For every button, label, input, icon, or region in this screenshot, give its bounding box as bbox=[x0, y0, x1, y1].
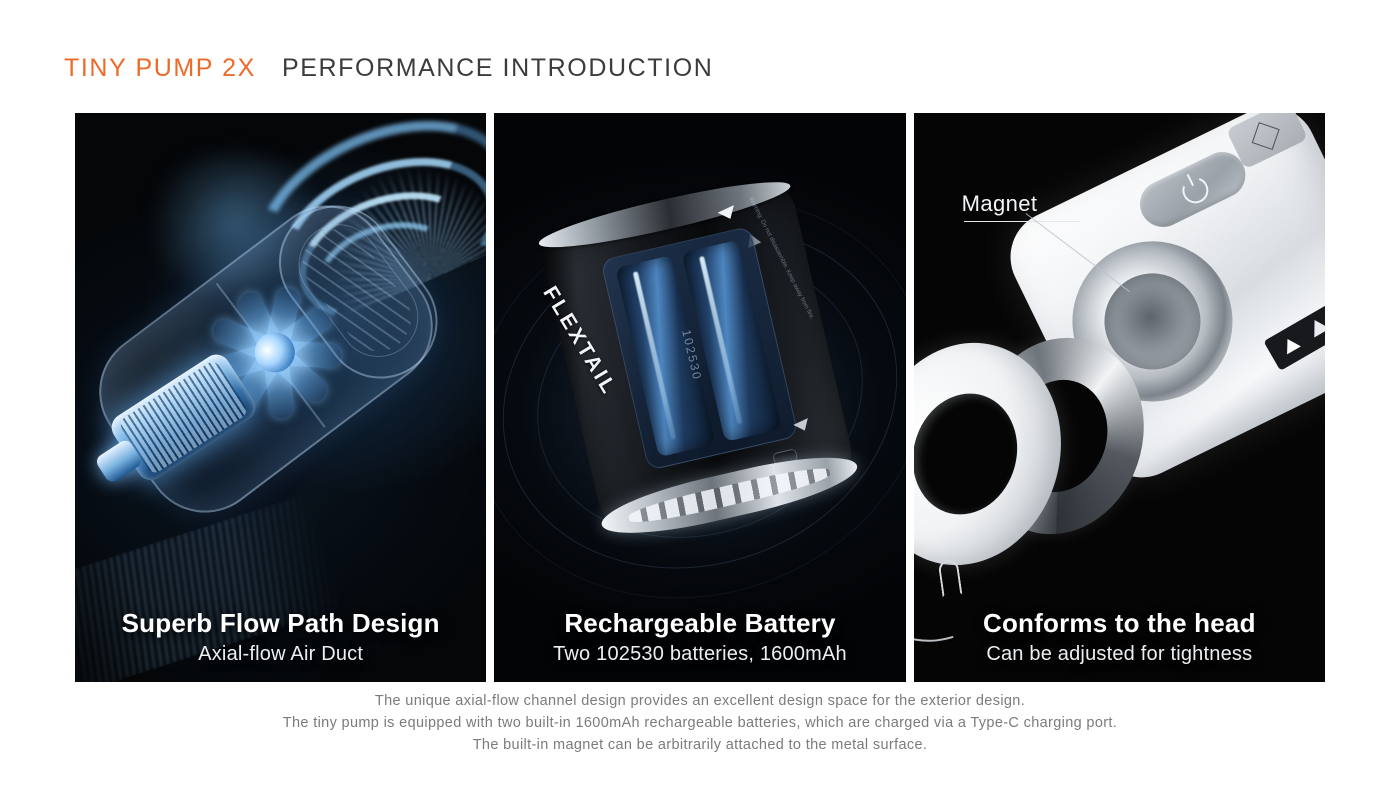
panel-flow-path-artwork bbox=[75, 113, 486, 682]
page-title: PERFORMANCE INTRODUCTION bbox=[282, 54, 713, 83]
warning-triangle-icon bbox=[1307, 315, 1325, 337]
footer-line: The built-in magnet can be arbitrarily a… bbox=[0, 734, 1400, 756]
magnet-callout-underline bbox=[964, 221, 1080, 222]
direction-arrow-icon bbox=[1281, 335, 1301, 354]
panel-magnet-artwork: Magnet Warning: Do not put your finger i… bbox=[914, 113, 1325, 682]
footer-line: The tiny pump is equipped with two built… bbox=[0, 712, 1400, 734]
feature-panel-strip: Superb Flow Path Design Axial-flow Air D… bbox=[75, 113, 1325, 682]
battery-cell-highlight bbox=[699, 256, 743, 425]
panel-battery[interactable]: FLEXTAIL Warning: Do not disassemble. Ke… bbox=[494, 113, 905, 682]
panel-flow-path[interactable]: Superb Flow Path Design Axial-flow Air D… bbox=[75, 113, 486, 682]
brand-title: TINY PUMP 2X bbox=[64, 54, 256, 83]
battery-cell-highlight bbox=[633, 271, 677, 440]
footer-line: The unique axial-flow channel design pro… bbox=[0, 690, 1400, 712]
page-header: TINY PUMP 2X PERFORMANCE INTRODUCTION bbox=[64, 54, 713, 83]
power-icon bbox=[1178, 173, 1213, 208]
slide-root: TINY PUMP 2X PERFORMANCE INTRODUCTION bbox=[0, 0, 1400, 796]
panel-magnet[interactable]: Magnet Warning: Do not put your finger i… bbox=[914, 113, 1325, 682]
footer-description: The unique axial-flow channel design pro… bbox=[0, 690, 1400, 756]
panel-battery-artwork: FLEXTAIL Warning: Do not disassemble. Ke… bbox=[494, 113, 905, 682]
